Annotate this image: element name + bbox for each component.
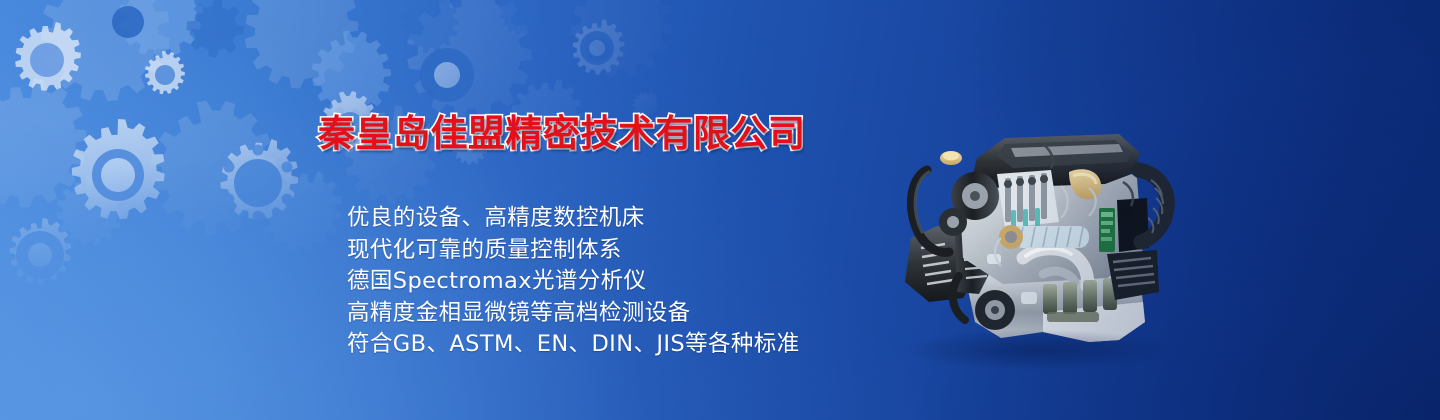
feature-line-2: 现代化可靠的质量控制体系: [347, 235, 867, 267]
feature-line-4: 高精度金相显微镜等高档检测设备: [347, 298, 867, 330]
feature-line-5: 符合GB、ASTM、EN、DIN、JIS等各种标准: [347, 329, 867, 361]
page-title: 秦皇岛佳盟精密技术有限公司: [318, 103, 806, 157]
company-banner: 秦皇岛佳盟精密技术有限公司 优良的设备、高精度数控机床 现代化可靠的质量控制体系…: [0, 0, 1440, 420]
feature-line-3: 德国Spectromax光谱分析仪: [347, 266, 867, 298]
feature-line-1: 优良的设备、高精度数控机床: [347, 203, 867, 235]
feature-list: 优良的设备、高精度数控机床 现代化可靠的质量控制体系 德国Spectromax光…: [347, 203, 867, 361]
engine-photo-icon: [893, 126, 1185, 354]
